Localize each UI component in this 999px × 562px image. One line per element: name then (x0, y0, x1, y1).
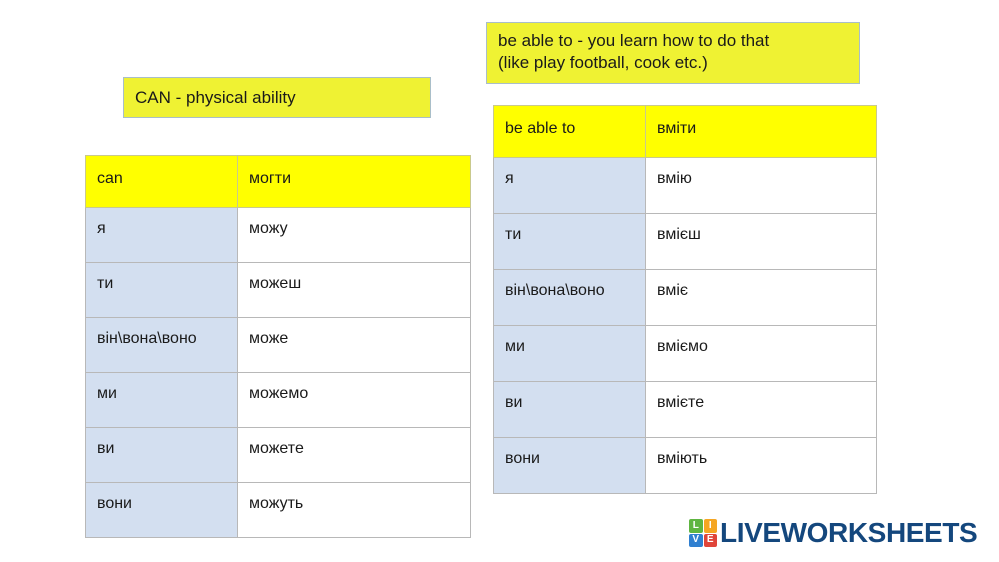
cell-pronoun: вони (86, 483, 238, 538)
cell-verb: вміють (646, 438, 877, 494)
cell-verb: вміє (646, 270, 877, 326)
cell-pronoun: вони (494, 438, 646, 494)
cell-pronoun: він\вона\воно (86, 318, 238, 373)
cell-verb: вміємо (646, 326, 877, 382)
cell-pronoun: я (494, 158, 646, 214)
table-row: він\вона\воно вміє (494, 270, 877, 326)
table-row: ми вміємо (494, 326, 877, 382)
cell-pronoun: ви (86, 428, 238, 483)
cell-verb: може (238, 318, 471, 373)
liveworksheets-logo-mark-icon: L I V E (689, 519, 717, 547)
table-row: ти вмієш (494, 214, 877, 270)
cell-pronoun: я (86, 208, 238, 263)
callout-be-able-to-explanation: be able to - you learn how to do that (l… (486, 22, 860, 84)
table-row: я можу (86, 208, 471, 263)
cell-verb: можуть (238, 483, 471, 538)
cell-verb: можемо (238, 373, 471, 428)
logo-tile-l: L (689, 519, 703, 533)
cell-verb: вмієш (646, 214, 877, 270)
table-row: ти можеш (86, 263, 471, 318)
cell-pronoun: ти (86, 263, 238, 318)
cell-verb: можеш (238, 263, 471, 318)
table-row: вони вміють (494, 438, 877, 494)
table-can-conjugation: can могти я можу ти можеш він\вона\воно … (85, 155, 471, 538)
cell-verb: можете (238, 428, 471, 483)
cell-pronoun: він\вона\воно (494, 270, 646, 326)
table-header-able-verb: вміти (646, 106, 877, 158)
cell-verb: вмію (646, 158, 877, 214)
table-row-header: be able to вміти (494, 106, 877, 158)
cell-pronoun: ми (494, 326, 646, 382)
table-row: вони можуть (86, 483, 471, 538)
table-row-header: can могти (86, 156, 471, 208)
worksheet-page: { "callouts": { "can": "CAN - physical a… (0, 0, 999, 562)
table-header-can-verb: могти (238, 156, 471, 208)
table-header-can-pronoun: can (86, 156, 238, 208)
table-row: ми можемо (86, 373, 471, 428)
logo-tile-v: V (689, 534, 703, 548)
liveworksheets-wordmark: LIVEWORKSHEETS (720, 519, 977, 547)
cell-verb: вмієте (646, 382, 877, 438)
cell-verb: можу (238, 208, 471, 263)
table-header-able-pronoun: be able to (494, 106, 646, 158)
table-row: ви можете (86, 428, 471, 483)
cell-pronoun: ми (86, 373, 238, 428)
callout-can-physical-ability: CAN - physical ability (123, 77, 431, 118)
liveworksheets-logo: L I V E LIVEWORKSHEETS (689, 517, 977, 549)
logo-tile-e: E (704, 534, 718, 548)
table-row: він\вона\воно може (86, 318, 471, 373)
cell-pronoun: ти (494, 214, 646, 270)
logo-tile-i: I (704, 519, 718, 533)
table-be-able-to-conjugation: be able to вміти я вмію ти вмієш він\вон… (493, 105, 877, 494)
table-row: ви вмієте (494, 382, 877, 438)
table-row: я вмію (494, 158, 877, 214)
cell-pronoun: ви (494, 382, 646, 438)
